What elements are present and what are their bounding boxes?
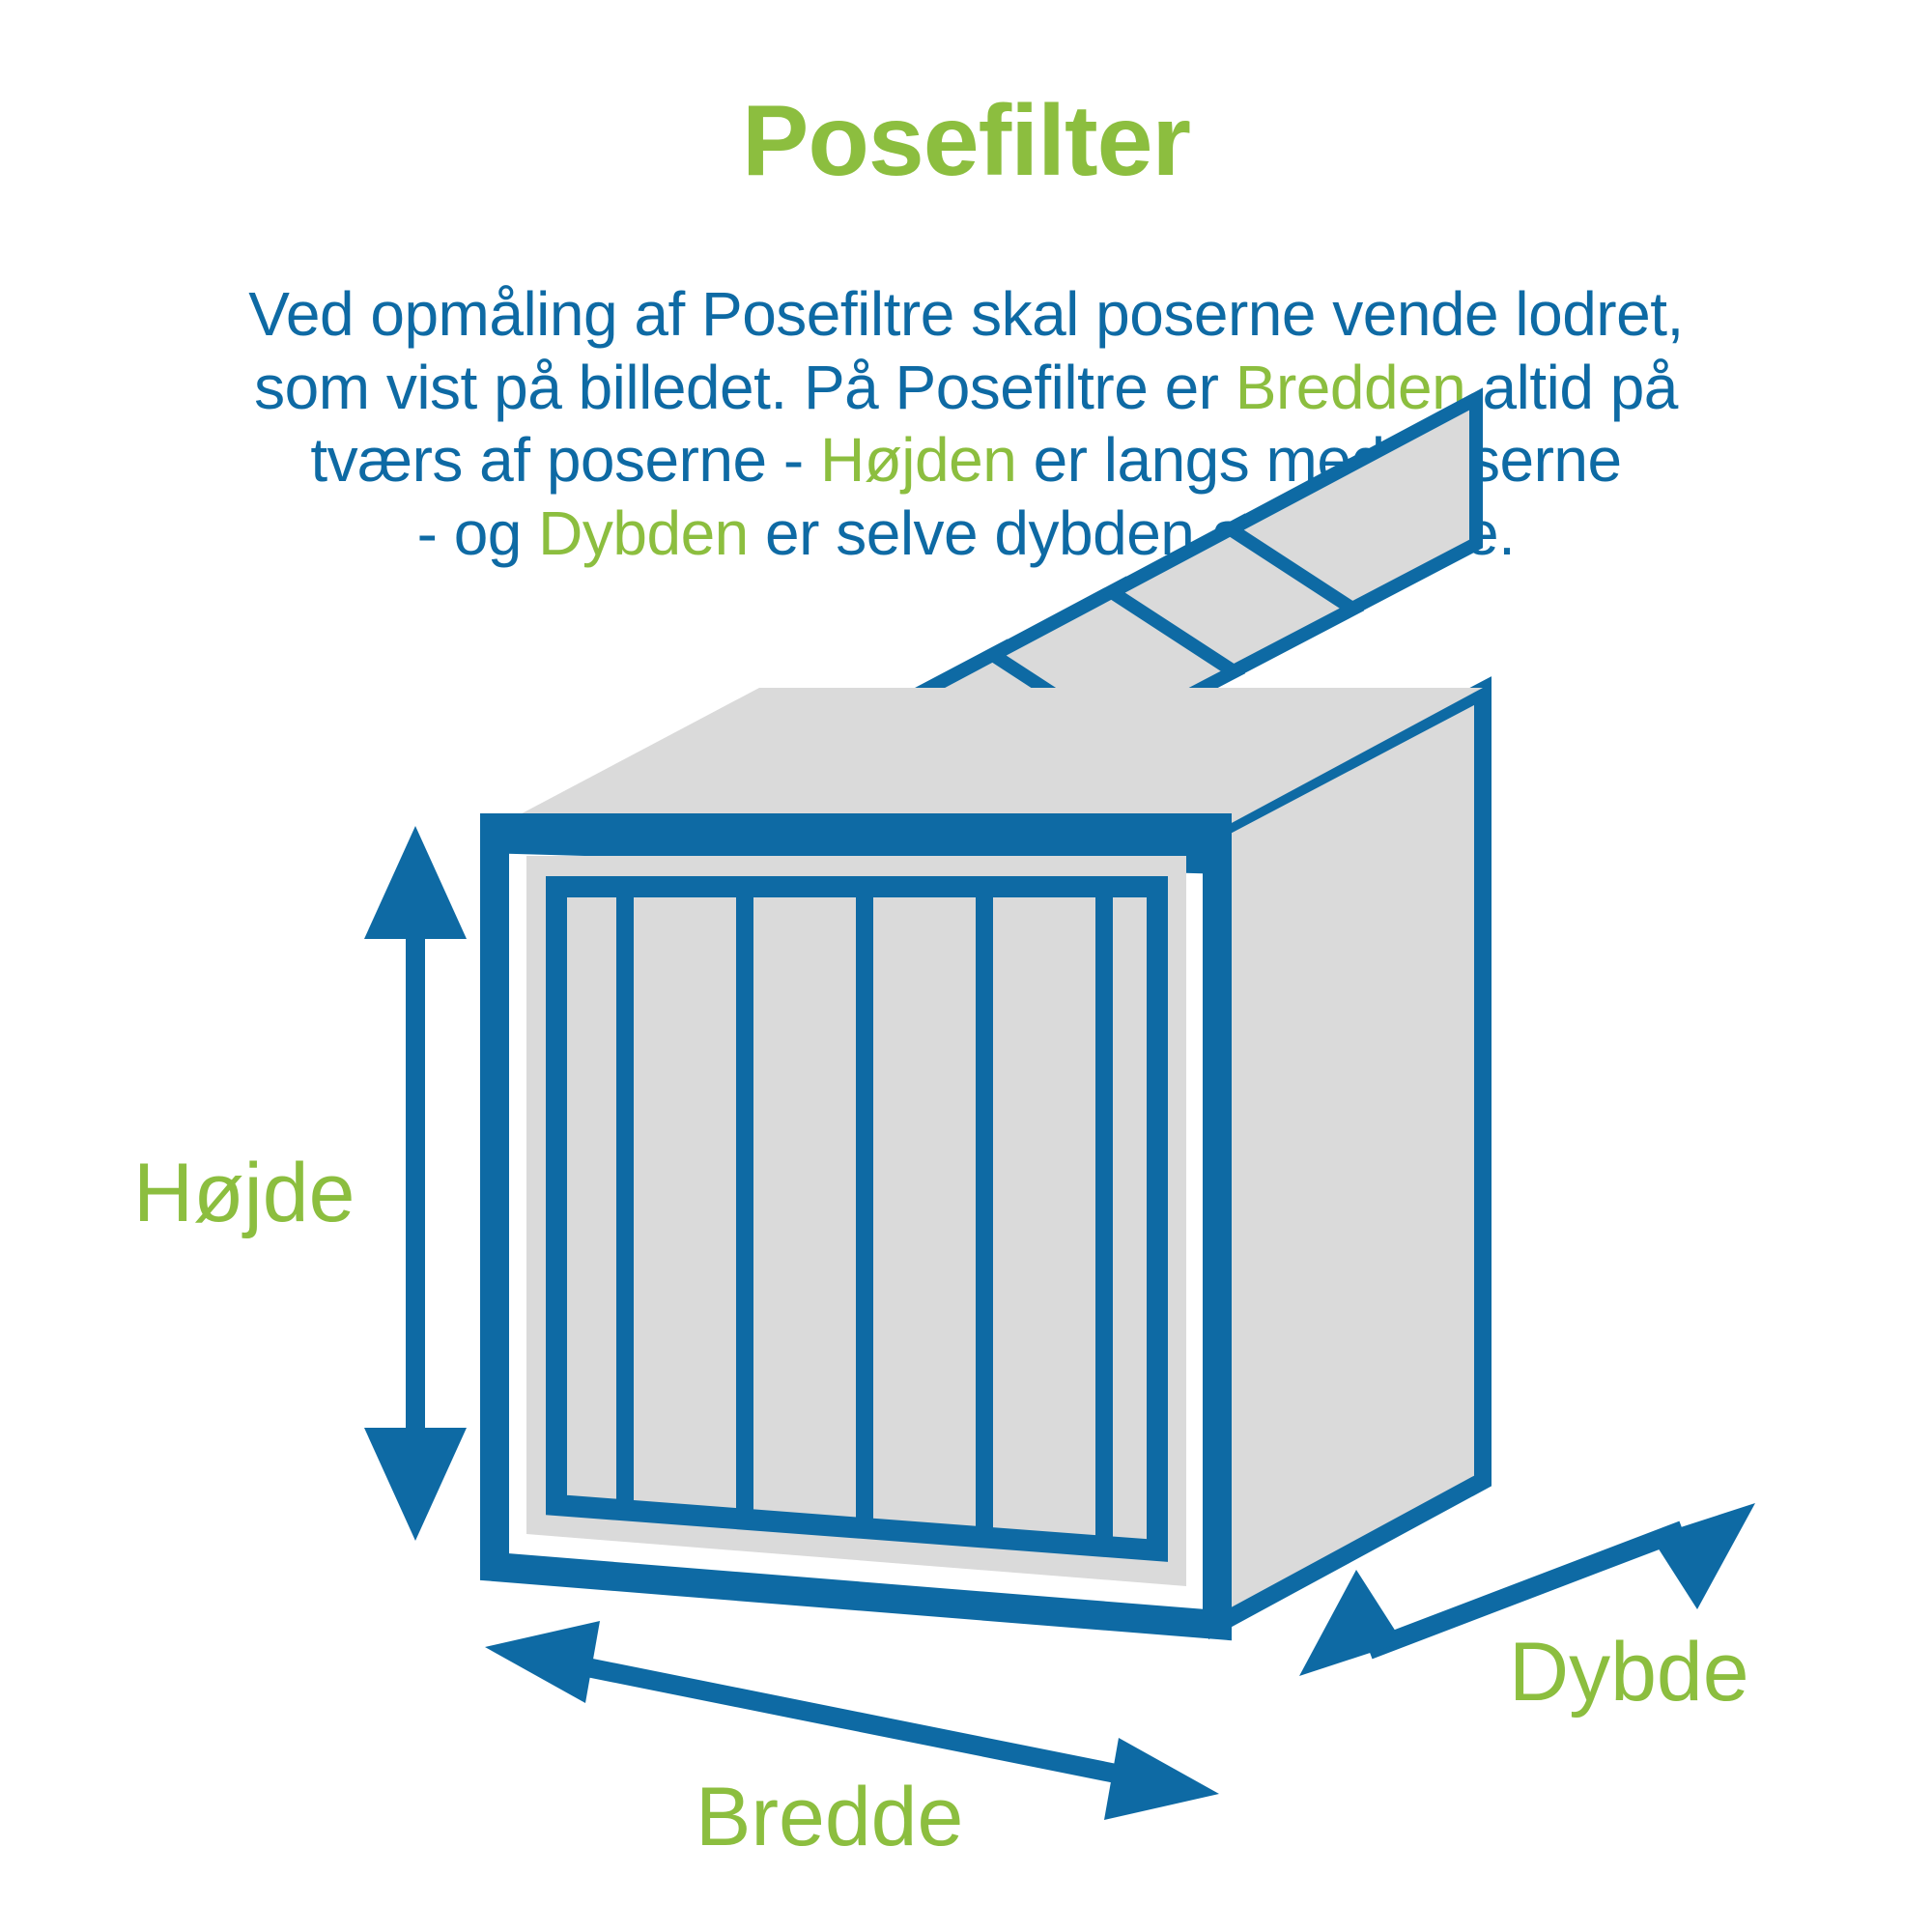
page-root: Posefilter Ved opmåling af Posefiltre sk… xyxy=(0,0,1932,1932)
width-label: Bredde xyxy=(696,1776,963,1859)
height-label: Højde xyxy=(133,1151,355,1235)
height-dimension-arrow xyxy=(364,826,467,1541)
filter-right-side-panel xyxy=(1217,691,1483,1625)
depth-label: Dybde xyxy=(1509,1631,1749,1714)
